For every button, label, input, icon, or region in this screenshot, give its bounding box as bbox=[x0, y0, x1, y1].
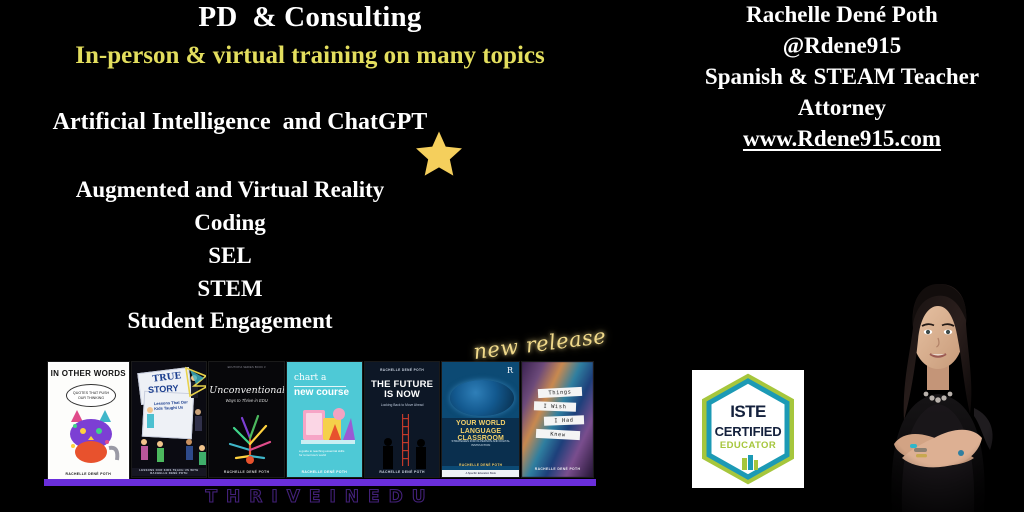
brand-thriveinedu: THRIVEINEDU bbox=[0, 487, 640, 507]
book-things-i-wish-i-knew[interactable]: Things I Wish I Had Knew RACHELLE DENÉ P… bbox=[522, 362, 593, 477]
topic-artificial-intelligence: Artificial Intelligence and ChatGPT bbox=[20, 109, 460, 136]
kids-illustration bbox=[132, 362, 207, 477]
tablet-illustration bbox=[299, 404, 357, 448]
globe-illustration bbox=[450, 380, 514, 416]
cat-illustration bbox=[61, 408, 121, 464]
presenter-role: Spanish & STEAM Teacher bbox=[660, 64, 1024, 90]
iste-certified-educator-badge: ISTE CERTIFIED EDUCATOR bbox=[692, 370, 804, 488]
left-content-column: PD & Consulting In-person & virtual trai… bbox=[0, 0, 620, 512]
book-author: RACHELLE DENÉ POTH bbox=[442, 463, 519, 467]
book-your-world-language-classroom[interactable]: R YOUR WORLD LANGUAGE CLASSROOM STRATEGI… bbox=[442, 362, 519, 477]
topic-stem: STEM bbox=[0, 276, 460, 302]
book-chart-a-new-course[interactable]: chart a new course a guide to teaching e… bbox=[287, 362, 362, 477]
presenter-name: Rachelle Dené Poth bbox=[660, 2, 1024, 28]
presenter-website[interactable]: www.Rdene915.com bbox=[660, 126, 1024, 152]
book-author: RACHELLE DENÉ POTH bbox=[365, 470, 440, 474]
portrait-photo bbox=[858, 248, 1018, 512]
book-title-word-3: I Had bbox=[544, 415, 584, 425]
star-icon bbox=[412, 128, 466, 180]
book-title: IN OTHER WORDS bbox=[50, 370, 127, 378]
book-publisher: A Specific Education Book bbox=[442, 470, 519, 477]
book-author: RACHELLE DENÉ POTH bbox=[522, 467, 593, 471]
book-subtitle: STRATEGIES FOR IN-PERSON AND DIGITAL INS… bbox=[442, 440, 519, 447]
presenter-profession: Attorney bbox=[660, 95, 1024, 121]
book-author: RACHELLE DENÉ POTH bbox=[50, 472, 127, 476]
iste-wordmark: ISTE bbox=[692, 402, 804, 422]
silhouette-figures bbox=[379, 437, 431, 469]
iste-mark-icon bbox=[739, 454, 759, 472]
book-title-line1: chart a bbox=[294, 374, 362, 383]
book-subtitle: Looking Back to Move Ahead bbox=[365, 404, 440, 407]
iste-certified-label: CERTIFIED bbox=[692, 424, 804, 439]
routledge-logo-icon: R bbox=[507, 366, 513, 375]
topic-student-engagement: Student Engagement bbox=[0, 308, 460, 334]
book-title: THE FUTURE IS NOW bbox=[365, 380, 440, 401]
book-series-label: EDUTOPIA SERIES BOOK 3 bbox=[209, 367, 284, 370]
presenter-handle: @Rdene915 bbox=[660, 33, 1024, 59]
book-the-future-is-now[interactable]: RACHELLE DENÉ POTH THE FUTURE IS NOW Loo… bbox=[365, 362, 440, 477]
page-subtitle: In-person & virtual training on many top… bbox=[0, 42, 620, 70]
color-splash-illustration bbox=[224, 410, 276, 464]
book-title: Unconventional bbox=[209, 386, 284, 396]
book-author-top: RACHELLE DENÉ POTH bbox=[365, 369, 440, 372]
new-release-label: new release bbox=[472, 324, 607, 364]
topic-sel: SEL bbox=[0, 243, 460, 269]
book-title-line2: new course bbox=[294, 388, 362, 399]
topic-coding: Coding bbox=[0, 210, 460, 236]
page-title: PD & Consulting bbox=[0, 1, 620, 34]
book-true-story[interactable]: TRUE STORY Lessons That Our Kids Taught … bbox=[132, 362, 207, 477]
book-covers-strip: IN OTHER WORDS QUOTES THAT PUSH OUR THIN… bbox=[48, 362, 593, 477]
book-in-other-words[interactable]: IN OTHER WORDS QUOTES THAT PUSH OUR THIN… bbox=[48, 362, 129, 481]
book-tagline-bubble: QUOTES THAT PUSH OUR THINKING bbox=[66, 384, 116, 407]
purple-divider-bar bbox=[44, 479, 596, 486]
book-subtitle: Ways to Thrive in EDU bbox=[209, 399, 284, 403]
book-author: RACHELLE DENÉ POTH bbox=[209, 470, 284, 474]
book-author: LESSONS OUR KIDS TEACH US WITH RACHELLE … bbox=[132, 468, 207, 476]
book-author: RACHELLE DENÉ POTH bbox=[287, 470, 362, 474]
iste-educator-label: EDUCATOR bbox=[692, 440, 804, 451]
topic-augmented-virtual-reality: Augmented and Virtual Reality bbox=[0, 177, 460, 203]
slide-canvas: PD & Consulting In-person & virtual trai… bbox=[0, 0, 1024, 512]
book-unconventional[interactable]: EDUTOPIA SERIES BOOK 3 Unconventional Wa… bbox=[209, 362, 284, 477]
book-title-word-2: I Wish bbox=[534, 401, 576, 411]
book-guide-text: a guide to teaching essential skills for… bbox=[299, 450, 345, 458]
